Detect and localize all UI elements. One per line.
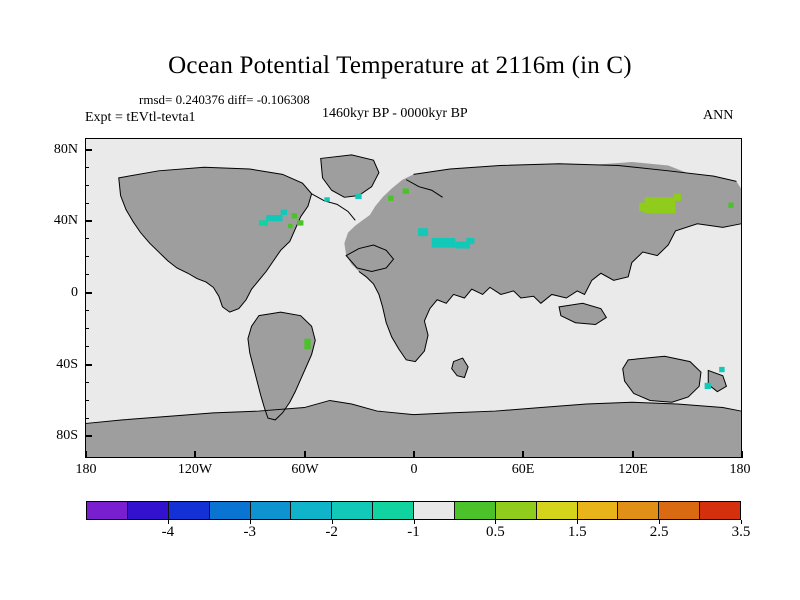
y-tick-0: [85, 292, 92, 294]
colorbar-cell-9: [455, 502, 496, 519]
colorbar-cell-3: [210, 502, 251, 519]
y-tick-label-40s: 40S: [40, 357, 78, 373]
map-plot-area: [85, 138, 742, 458]
colorbar-cell-11: [537, 502, 578, 519]
y-minor-tick: [85, 238, 89, 239]
colorbar-cell-13: [618, 502, 659, 519]
colorbar-label-2: -2: [325, 524, 338, 541]
y-tick-80s: [85, 435, 92, 437]
colorbar-cell-7: [373, 502, 414, 519]
y-tick-label-80n: 80N: [40, 142, 78, 158]
colorbar-cell-15: [700, 502, 740, 519]
colorbar-cell-2: [169, 502, 210, 519]
x-tick-label-120w: 120W: [178, 462, 212, 478]
colorbar-label-6: 2.5: [650, 524, 669, 541]
colorbar-cell-0: [87, 502, 128, 519]
x-tick-label-0: 0: [411, 462, 418, 478]
colorbar-label-1: -3: [244, 524, 257, 541]
y-minor-tick: [85, 400, 89, 401]
x-tick-label-60e: 60E: [512, 462, 535, 478]
season-label: ANN: [703, 108, 733, 124]
y-minor-tick: [85, 382, 89, 383]
colorbar: [86, 501, 741, 520]
y-tick-label-80s: 80S: [40, 428, 78, 444]
y-minor-tick: [85, 203, 89, 204]
colorbar-cell-12: [578, 502, 619, 519]
period-label: 1460kyr BP - 0000kyr BP: [322, 106, 468, 122]
colorbar-cell-8: [414, 502, 455, 519]
colorbar-cell-14: [659, 502, 700, 519]
colorbar-cell-6: [332, 502, 373, 519]
world-map: [86, 139, 741, 457]
rmsd-stats: rmsd= 0.240376 diff= -0.106308: [139, 92, 310, 108]
experiment-label: Expt = tEVtl-tevta1: [85, 110, 196, 126]
y-tick-40s: [85, 364, 92, 366]
x-tick-120w: [194, 451, 196, 458]
colorbar-label-0: -4: [162, 524, 175, 541]
y-minor-tick: [85, 328, 89, 329]
colorbar-cell-10: [496, 502, 537, 519]
x-tick-0: [413, 451, 415, 458]
x-tick-label-120e: 120E: [618, 462, 648, 478]
x-tick-label-180e: 180: [730, 462, 751, 478]
page-title: Ocean Potential Temperature at 2116m (in…: [0, 52, 800, 80]
y-minor-tick: [85, 256, 89, 257]
y-tick-40n: [85, 220, 92, 222]
colorbar-label-3: -1: [407, 524, 420, 541]
y-minor-tick: [85, 418, 89, 419]
y-minor-tick: [85, 310, 89, 311]
x-tick-60w: [304, 451, 306, 458]
x-tick-180w: [85, 451, 87, 458]
colorbar-cell-1: [128, 502, 169, 519]
colorbar-label-7: 3.5: [732, 524, 751, 541]
x-tick-60e: [522, 451, 524, 458]
y-minor-tick: [85, 185, 89, 186]
colorbar-cell-5: [291, 502, 332, 519]
colorbar-label-5: 1.5: [568, 524, 587, 541]
x-tick-label-180w: 180: [76, 462, 97, 478]
y-minor-tick: [85, 167, 89, 168]
y-minor-tick: [85, 274, 89, 275]
y-tick-label-0: 0: [40, 285, 78, 301]
y-tick-80n: [85, 149, 92, 151]
figure-canvas: Ocean Potential Temperature at 2116m (in…: [0, 0, 800, 600]
x-tick-180e: [741, 451, 743, 458]
colorbar-label-4: 0.5: [486, 524, 505, 541]
y-minor-tick: [85, 346, 89, 347]
colorbar-cell-4: [251, 502, 292, 519]
x-tick-120e: [632, 451, 634, 458]
x-tick-label-60w: 60W: [291, 462, 318, 478]
y-tick-label-40n: 40N: [40, 213, 78, 229]
